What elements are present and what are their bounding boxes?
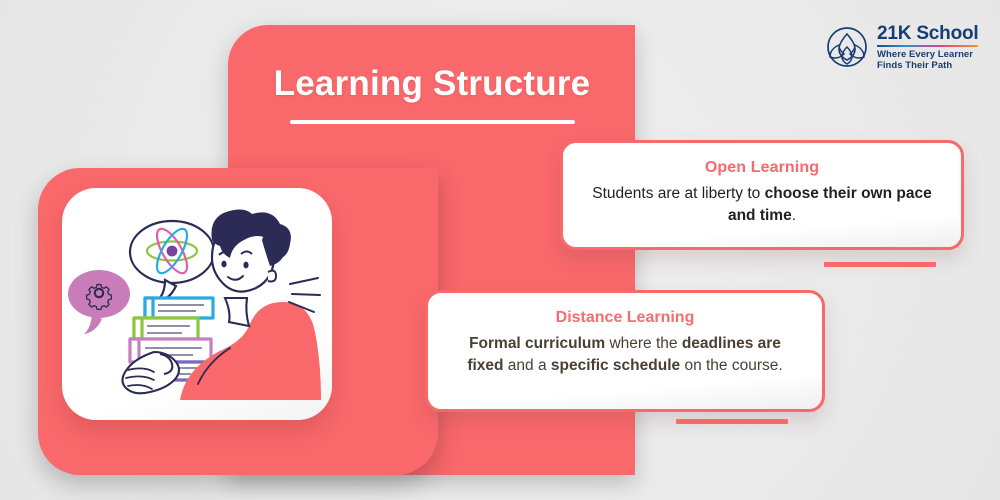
- card-body-segment: where the: [605, 335, 682, 352]
- page-title: Learning Structure: [236, 62, 628, 106]
- card-body-segment-bold: Formal curriculum: [469, 335, 605, 352]
- accent-bar-open-learning: [824, 262, 936, 267]
- card-body: Students are at liberty to choose their …: [591, 183, 933, 227]
- accent-bar-distance-learning: [676, 419, 788, 424]
- logo-gradient-rule: [877, 45, 978, 48]
- page-title-block: Learning Structure: [236, 62, 628, 124]
- card-body-segment-bold: specific schedule: [551, 357, 680, 374]
- infographic-canvas: Learning Structure: [0, 0, 1000, 500]
- card-body: Formal curriculum where the deadlines ar…: [452, 333, 798, 377]
- atom-thought-bubble-icon: [130, 221, 214, 302]
- logo-tagline-line1: Where Every Learner: [877, 49, 978, 60]
- brand-logo[interactable]: 21K School Where Every Learner Finds The…: [826, 24, 978, 70]
- logo-text-block: 21K School Where Every Learner Finds The…: [877, 23, 978, 72]
- card-title: Open Learning: [591, 157, 933, 178]
- card-body-segment: .: [792, 207, 796, 224]
- student-holding-books-illustration: [62, 188, 332, 420]
- logo-name: 21K School: [877, 23, 978, 44]
- info-card-distance-learning[interactable]: Distance Learning Formal curriculum wher…: [425, 290, 825, 412]
- title-underline-rule: [290, 120, 575, 124]
- card-body-segment: Students are at liberty to: [592, 185, 764, 202]
- logo-tagline-line2: Finds Their Path: [877, 60, 978, 71]
- card-title: Distance Learning: [452, 307, 798, 328]
- lotus-circle-icon: [826, 26, 868, 68]
- card-body-segment: and a: [504, 357, 551, 374]
- info-card-open-learning[interactable]: Open Learning Students are at liberty to…: [560, 140, 964, 250]
- gear-thought-bubble-icon: [68, 270, 130, 334]
- card-body-segment: on the course.: [680, 357, 783, 374]
- illustration-card: [62, 188, 332, 420]
